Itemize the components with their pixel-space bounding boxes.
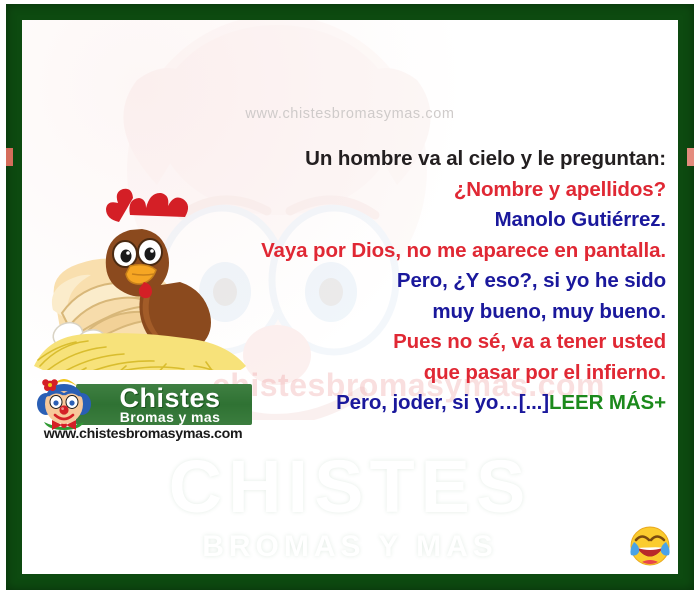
joke-card: chistesbromasymas.com www.chistesbromasy… [0,0,700,613]
joke-line-6: muy bueno, muy bueno. [196,297,666,328]
border-nick-left [6,148,13,166]
logo-subtitle: Bromas y mas [90,409,250,425]
watermark-big-subtitle: BROMAS Y MAS [22,532,678,562]
border-nick-right [687,148,694,166]
logo-url: www.chistesbromasymas.com [32,426,254,442]
joke-line-8: que pasar por el infierno. [196,358,666,389]
clown-face-icon [36,378,92,430]
joke-line-9-text: Pero, joder, si yo…[...] [336,391,549,414]
watermark-top-url: www.chistesbromasymas.com [22,106,678,122]
joke-text-block: Un hombre va al cielo y le preguntan: ¿N… [196,144,666,419]
joke-line-7: Pues no sé, va a tener usted [196,327,666,358]
read-more-link[interactable]: LEER MÁS+ [549,391,666,414]
watermark-big-title: CHISTES [22,450,678,524]
joke-line-5: Pero, ¿Y eso?, si yo he sido [196,266,666,297]
hen-on-nest-illustration [26,170,256,370]
joke-line-4: Vaya por Dios, no me aparece en pantalla… [196,236,666,267]
joke-line-3: Manolo Gutiérrez. [196,205,666,236]
joke-line-2: ¿Nombre y apellidos? [196,175,666,206]
face-with-tears-of-joy-icon [628,524,672,568]
joke-line-1: Un hombre va al cielo y le preguntan: [196,144,666,175]
site-logo[interactable]: Chistes Bromas y mas www.chistesbromasym… [32,382,254,444]
joke-line-9: Pero, joder, si yo…[...]LEER MÁS+ [196,388,666,419]
card-canvas: chistesbromasymas.com www.chistesbromasy… [22,20,678,574]
